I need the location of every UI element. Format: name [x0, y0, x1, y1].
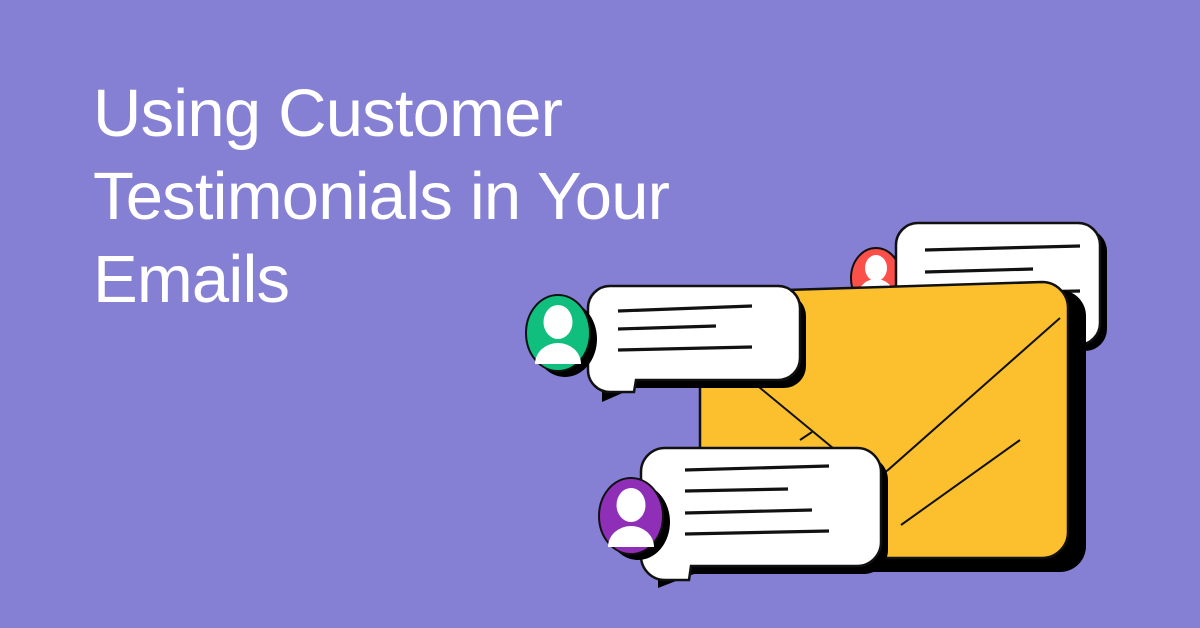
testimonial-bubble-bottom	[599, 448, 888, 588]
bubble-body	[641, 448, 881, 580]
envelope-flap-fold	[702, 318, 1060, 475]
envelope	[700, 282, 1086, 572]
bubble-text-lines	[925, 246, 1080, 316]
avatar-purple-icon	[599, 478, 670, 560]
testimonial-bubble-top-right	[851, 223, 1107, 351]
bubble-body	[896, 223, 1100, 345]
page-title: Using Customer Testimonials in Your Emai…	[93, 72, 753, 321]
envelope-crease-lower	[901, 440, 1020, 525]
blog-banner: Using Customer Testimonials in Your Emai…	[0, 0, 1200, 628]
bubble-text-lines	[685, 466, 829, 534]
envelope-crease-left	[800, 432, 812, 440]
avatar-red-icon	[851, 248, 906, 311]
envelope-body	[700, 282, 1068, 558]
